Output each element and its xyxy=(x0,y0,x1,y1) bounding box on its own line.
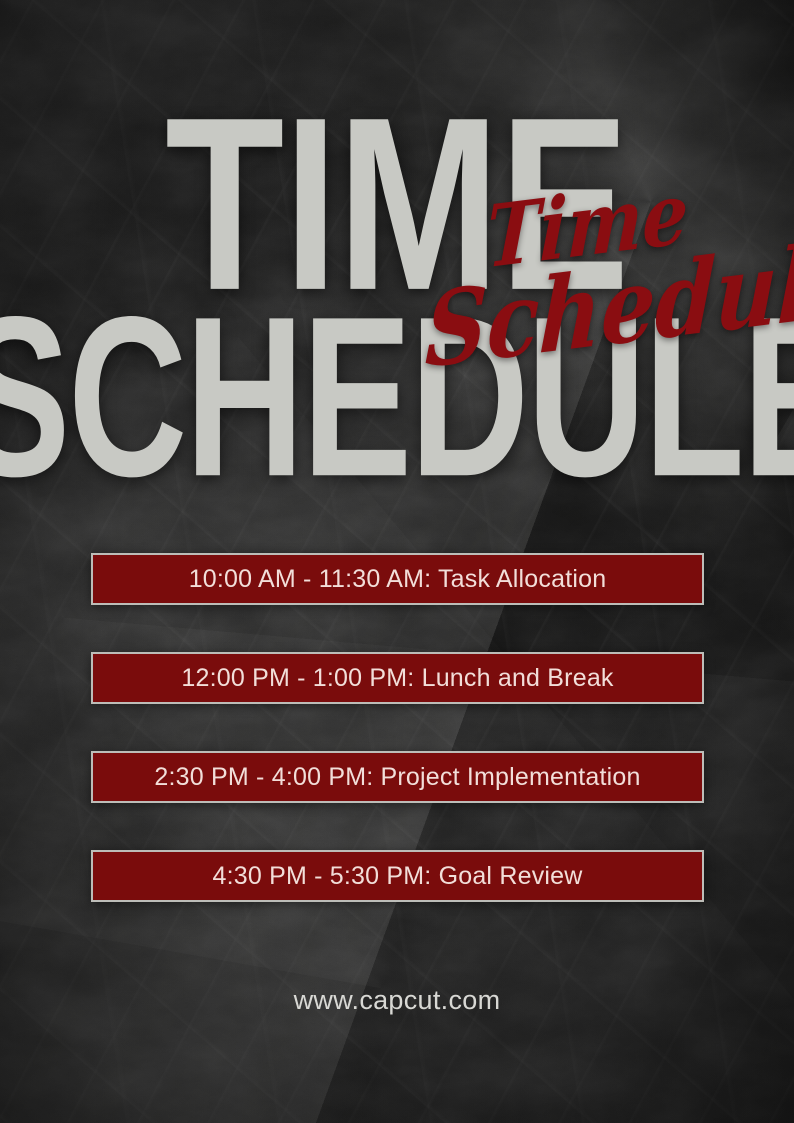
page-title-line-schedule: SCHEDULE xyxy=(0,308,794,486)
footer-website-url[interactable]: www.capcut.com xyxy=(294,985,501,1015)
schedule-item-2[interactable]: 12:00 PM - 1:00 PM: Lunch and Break xyxy=(91,652,704,704)
schedule-item-4[interactable]: 4:30 PM - 5:30 PM: Goal Review xyxy=(91,850,704,902)
schedule-item-label: 2:30 PM - 4:00 PM: Project Implementatio… xyxy=(154,765,640,790)
schedule-item-1[interactable]: 10:00 AM - 11:30 AM: Task Allocation xyxy=(91,553,704,605)
schedule-item-label: 10:00 AM - 11:30 AM: Task Allocation xyxy=(189,567,607,592)
footer: www.capcut.com xyxy=(0,985,794,1016)
schedule-item-3[interactable]: 2:30 PM - 4:00 PM: Project Implementatio… xyxy=(91,751,704,803)
schedule-item-label: 12:00 PM - 1:00 PM: Lunch and Break xyxy=(181,666,613,691)
schedule-item-label: 4:30 PM - 5:30 PM: Goal Review xyxy=(212,864,582,889)
poster-canvas: TIME SCHEDULE Time Schedule 10:00 AM - 1… xyxy=(0,0,794,1123)
schedule-list: 10:00 AM - 11:30 AM: Task Allocation 12:… xyxy=(91,553,704,902)
poster-heading-group: TIME SCHEDULE xyxy=(0,108,794,425)
